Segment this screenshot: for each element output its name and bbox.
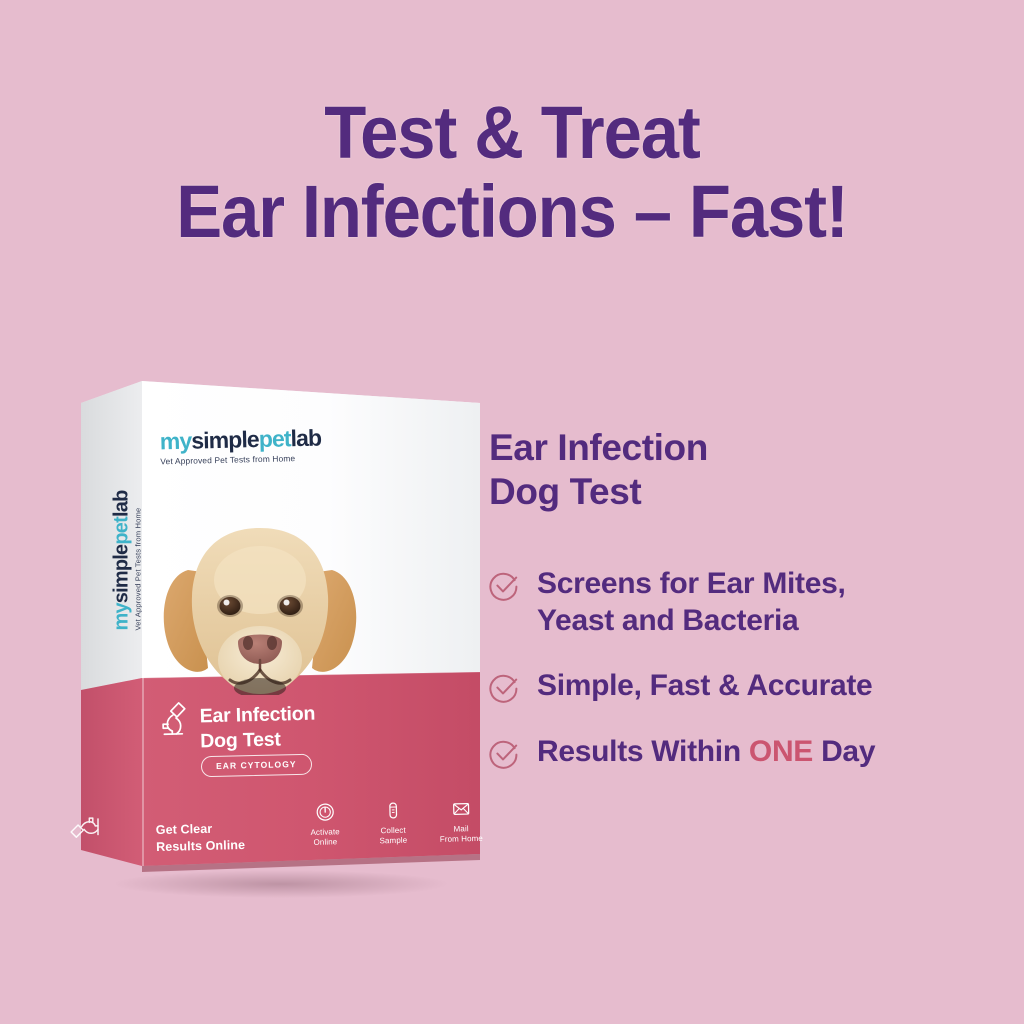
product-title-line-2: Dog Test	[489, 470, 959, 514]
feature-3-prefix: Results Within	[537, 735, 749, 768]
page-title: Test & Treat Ear Infections – Fast!	[36, 96, 988, 249]
feature-text: Results Within ONE Day	[537, 734, 875, 771]
product-title-line-1: Ear Infection	[489, 426, 959, 470]
check-circle-icon	[489, 739, 519, 769]
feature-text: Screens for Ear Mites, Yeast and Bacteri…	[537, 566, 846, 639]
dog-photo	[146, 510, 374, 695]
headline-line-1: Test & Treat	[36, 96, 988, 169]
feature-1-line-2: Yeast and Bacteria	[537, 604, 798, 637]
product-title: Ear Infection Dog Test	[489, 426, 959, 513]
feature-3-suffix: Day	[813, 735, 875, 768]
list-item: Results Within ONE Day	[489, 734, 959, 771]
check-circle-icon	[489, 571, 519, 601]
promo-image-canvas: Test & Treat Ear Infections – Fast!	[0, 0, 1024, 1024]
list-item: Screens for Ear Mites, Yeast and Bacteri…	[489, 566, 959, 639]
feature-text: Simple, Fast & Accurate	[537, 668, 872, 705]
headline-line-2: Ear Infections – Fast!	[36, 175, 988, 248]
feature-1-line-1: Screens for Ear Mites,	[537, 567, 846, 600]
check-circle-icon	[489, 673, 519, 703]
feature-list: Screens for Ear Mites, Yeast and Bacteri…	[489, 566, 959, 770]
feature-3-highlight: ONE	[749, 735, 813, 768]
list-item: Simple, Fast & Accurate	[489, 668, 959, 705]
product-box-image: mysimplepetlab Vet Approved Pet Tests fr…	[56, 360, 486, 900]
product-info-column: Ear Infection Dog Test	[489, 426, 959, 513]
feature-2-line-1: Simple, Fast & Accurate	[537, 669, 872, 702]
